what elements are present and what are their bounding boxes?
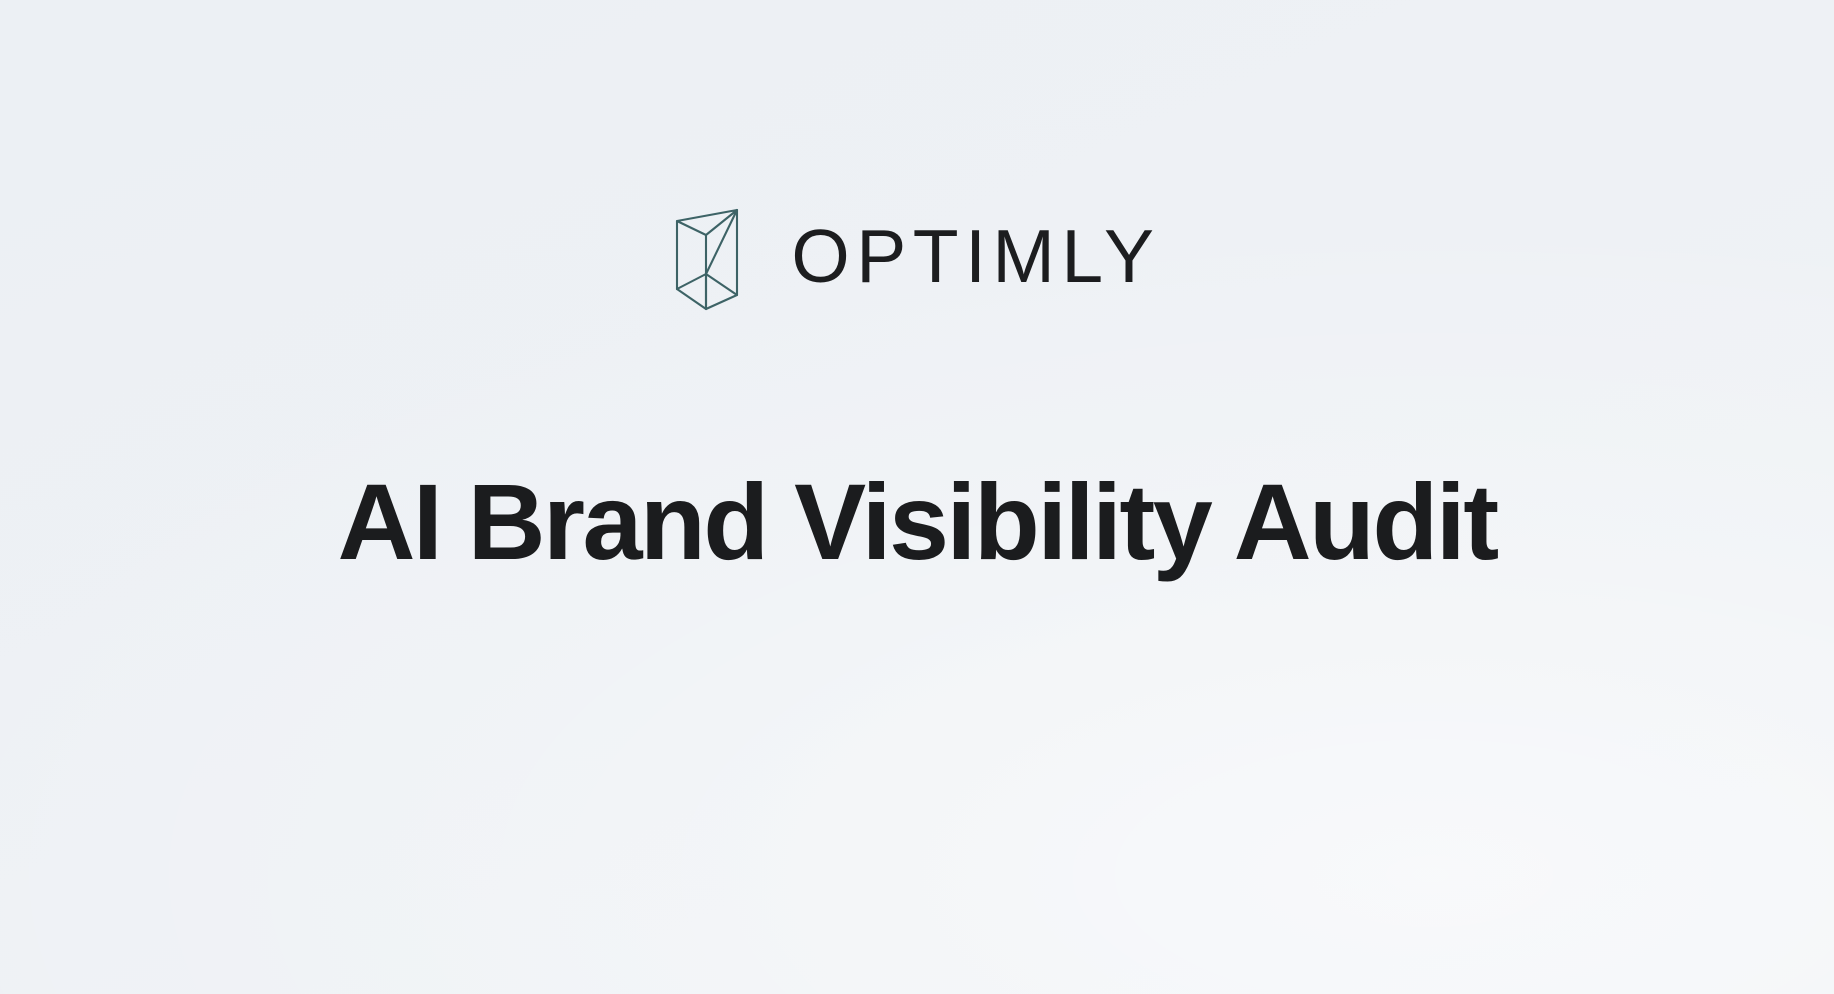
optimly-prism-logo-icon — [673, 196, 747, 312]
title-slide: OPTIMLY AI Brand Visibility Audit — [0, 0, 1834, 994]
page-title: AI Brand Visibility Audit — [0, 464, 1834, 581]
brand-wordmark: OPTIMLY — [791, 219, 1160, 294]
brand-logo-lockup: OPTIMLY — [0, 196, 1834, 312]
